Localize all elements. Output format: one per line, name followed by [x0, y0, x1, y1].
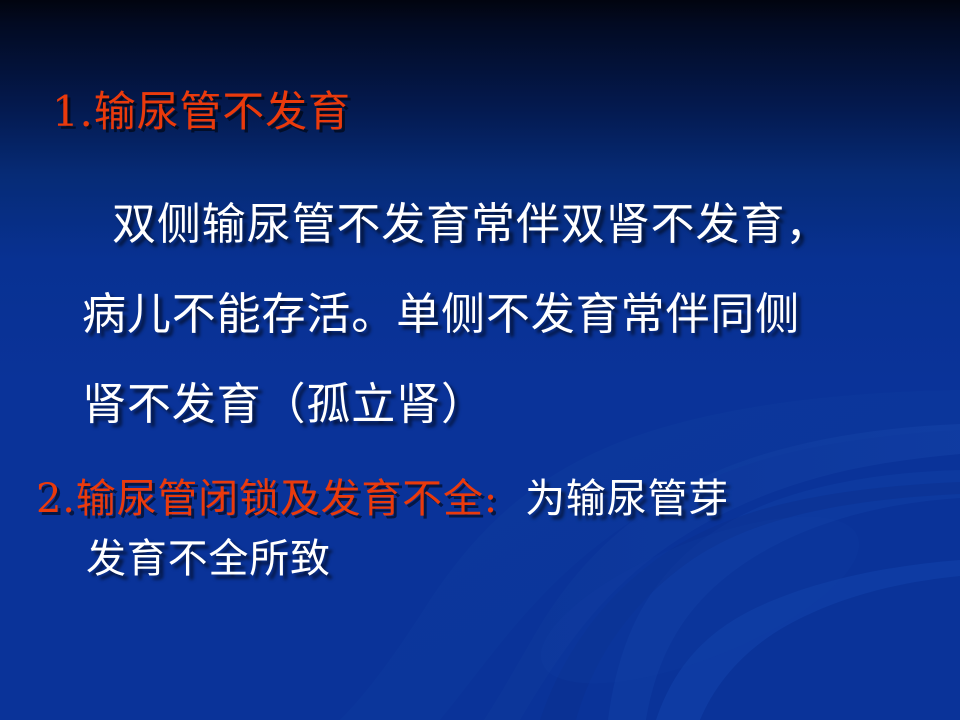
heading-item-2-red-part: 2.输尿管闭锁及发育不全: — [36, 476, 498, 522]
body-text-line-4: 发育不全所致 — [86, 526, 331, 584]
presentation-slide: 1.输尿管不发育 双侧输尿管不发育常伴双肾不发育， 病儿不能存活。单侧不发育常伴… — [0, 0, 960, 720]
body-text-line-2: 病儿不能存活。单侧不发育常伴同侧 — [82, 278, 800, 342]
heading-item-2: 2.输尿管闭锁及发育不全: 为输尿管芽 — [36, 466, 729, 524]
heading-item-1: 1.输尿管不发育 — [52, 78, 351, 139]
heading-item-2-white-part: 为输尿管芽 — [498, 476, 729, 522]
slide-text-content: 1.输尿管不发育 双侧输尿管不发育常伴双肾不发育， 病儿不能存活。单侧不发育常伴… — [0, 0, 960, 720]
body-text-line-3: 肾不发育（孤立肾） — [82, 368, 486, 432]
body-text-line-1: 双侧输尿管不发育常伴双肾不发育， — [112, 188, 830, 252]
